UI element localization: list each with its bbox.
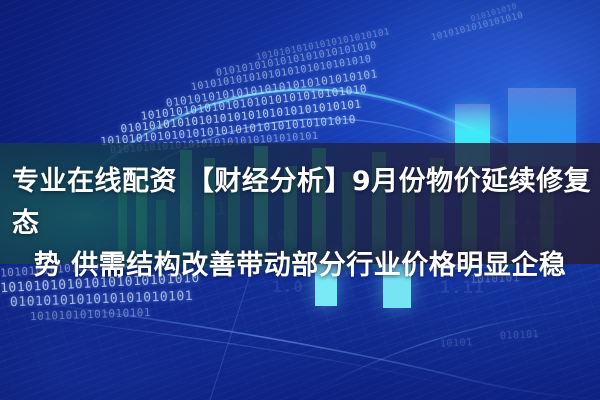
- headline-line-1: 专业在线配资 【财经分析】9月份物价延续修复态: [0, 161, 600, 245]
- binary-row: 10101: [440, 337, 473, 350]
- news-banner: 1010101010101010101010101010101010101010…: [0, 0, 600, 400]
- binary-row: 10101010101010101: [30, 306, 151, 323]
- binary-row: 010101: [500, 329, 540, 342]
- headline-line-2: 势 供需结构改善带动部分行业价格明显企稳: [0, 245, 600, 287]
- page-title: 专业在线配资 【财经分析】9月份物价延续修复态 势 供需结构改善带动部分行业价格…: [0, 161, 600, 287]
